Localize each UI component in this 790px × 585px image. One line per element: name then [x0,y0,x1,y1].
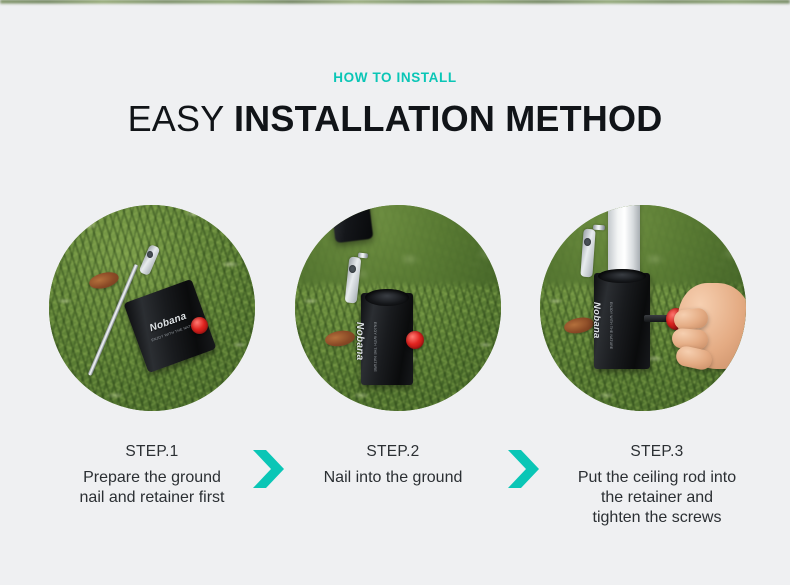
ground-nail-shaft [593,225,605,231]
red-screw-knob [191,317,208,334]
chevron-right-icon [508,450,541,488]
step-1-text: Prepare the ground nail and retainer fir… [17,468,287,508]
step-3-photo: Nobana ENJOY WITH THE NATURE [540,205,746,411]
ground-nail-hole [147,251,153,258]
step-2-label: STEP.2 [258,443,528,461]
step-1-photo: Nobana ENJOY WITH THE NATURE [49,205,255,411]
install-guide-page: HOW TO INSTALL EASY INSTALLATION METHOD … [0,0,790,585]
step-2: Nobana ENJOY WITH THE NATURE [295,205,501,411]
step-1-label: STEP.1 [17,443,287,461]
step-3-caption: STEP.3 Put the ceiling rod into the reta… [522,443,790,528]
retainer-body [594,273,650,369]
step-3-label: STEP.3 [522,443,790,461]
step-3-text: Put the ceiling rod into the retainer an… [522,468,790,528]
steps-row: Nobana ENJOY WITH THE NATURE Nobana [0,0,790,585]
red-screw-knob [406,331,424,349]
step-2-photo: Nobana ENJOY WITH THE NATURE [295,205,501,411]
step-2-text: Nail into the ground [258,468,528,488]
retainer-opening [365,289,409,306]
step-3: Nobana ENJOY WITH THE NATURE [540,205,746,411]
brand-text: Nobana [354,322,365,360]
ground-nail-hole [349,265,356,273]
mallet-head [331,205,374,243]
retainer-opening [598,269,646,283]
ground-nail-shaft [358,252,368,258]
brand-text: Nobana [591,302,602,339]
step-2-caption: STEP.2 Nail into the ground [258,443,528,488]
ground-nail-hole [584,238,591,246]
brand-tagline: ENJOY WITH THE NATURE [609,302,613,349]
chevron-right-icon [253,450,286,488]
step-1: Nobana ENJOY WITH THE NATURE [49,205,255,411]
step-1-caption: STEP.1 Prepare the ground nail and retai… [17,443,287,508]
brand-tagline: ENJOY WITH THE NATURE [373,322,377,372]
